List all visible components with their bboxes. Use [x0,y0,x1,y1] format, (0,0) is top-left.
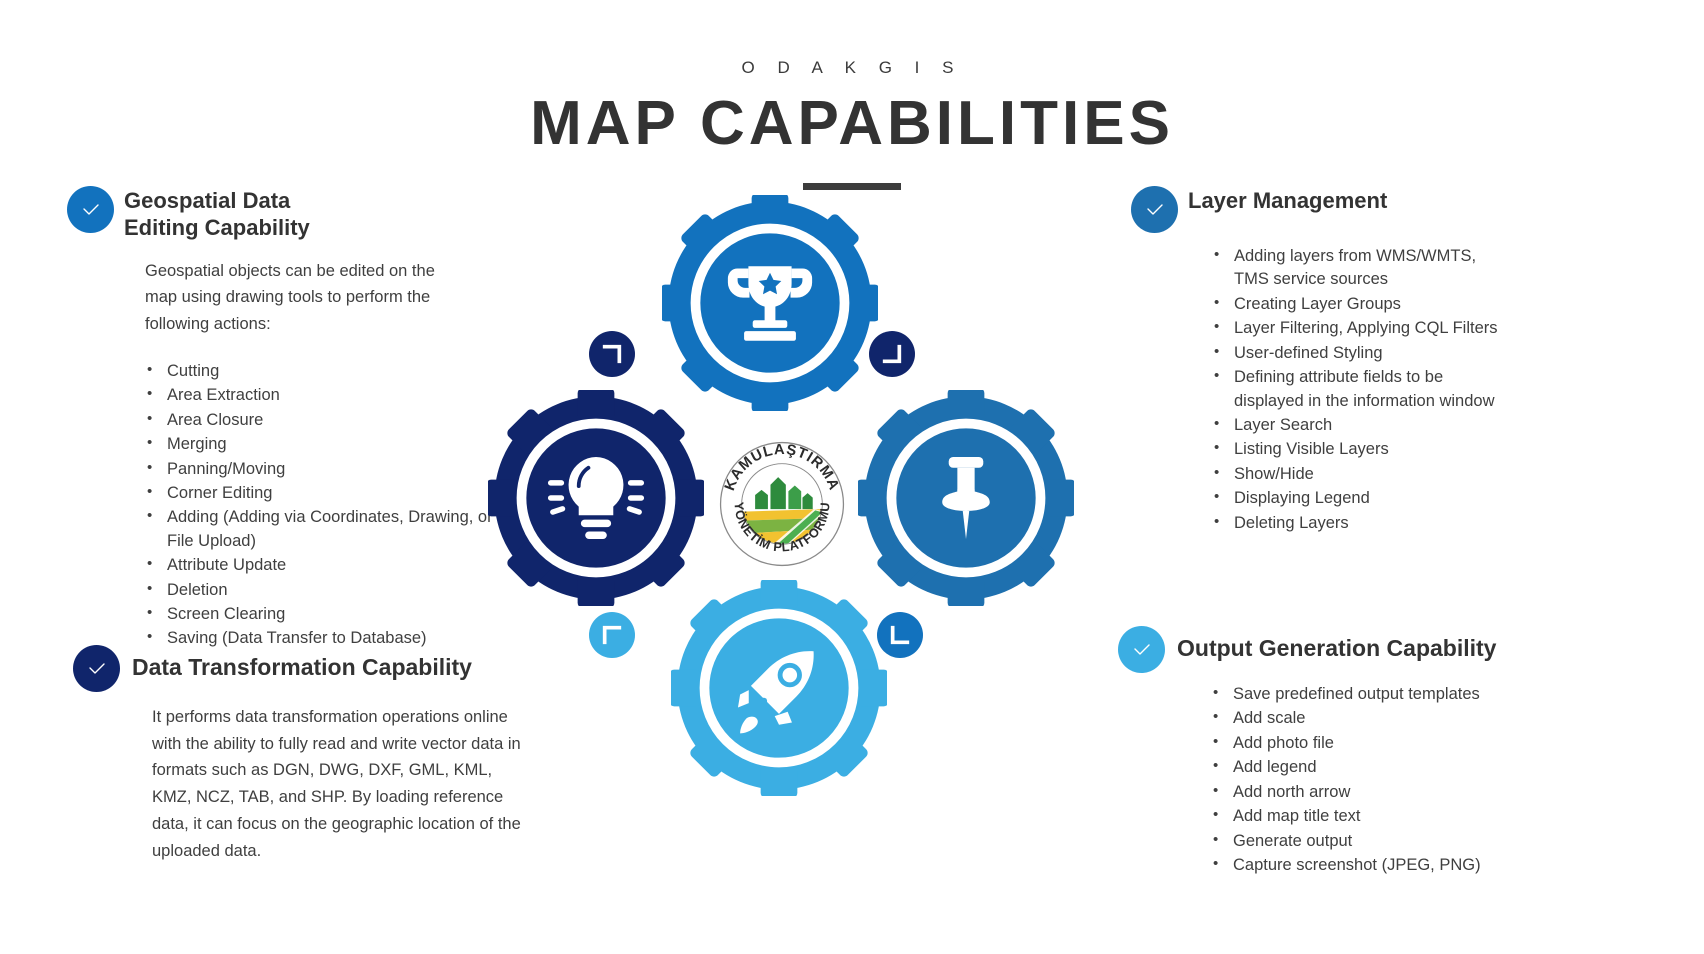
list-item: Displaying Legend [1212,487,1512,510]
list-item: Creating Layer Groups [1212,293,1512,316]
section-title-line-1: Geospatial Data [124,188,310,215]
list-item: Add scale [1211,707,1631,730]
list-item: Panning/Moving [145,458,515,481]
list-item: Attribute Update [145,554,515,577]
section-header: Geospatial Data Editing Capability [67,186,537,242]
list-item: Deletion [145,579,515,602]
check-icon [1130,638,1154,662]
list-item: Adding (Adding via Coordinates, Drawing,… [145,506,515,553]
list-item: Add photo file [1211,732,1631,755]
section-title-line-2: Editing Capability [124,215,310,242]
gear-left-shape [488,390,704,606]
kamulastirma-logo: KAMULAŞTIRMA YÖNETİM PLATFORMU [718,440,846,568]
brand-eyebrow: O D A K G I S [0,58,1704,78]
page-title: MAP CAPABILITIES [0,88,1704,159]
gear-top-shape [662,195,878,411]
list-item: Area Closure [145,409,515,432]
rocket-dot [761,698,767,704]
check-circle-layer [1131,186,1178,233]
list-item: Add north arrow [1211,781,1631,804]
list-item: Save predefined output templates [1211,683,1631,706]
corner-bracket-top-right-icon [601,343,623,365]
title-underline-rule [803,183,901,190]
gear-cluster-diagram: KAMULAŞTIRMA YÖNETİM PLATFORMU [470,195,1110,825]
list-item: Area Extraction [145,384,515,407]
check-icon [1143,198,1167,222]
badge-corner-top-left [589,331,635,377]
section-geospatial-data-editing: Geospatial Data Editing Capability Geosp… [67,186,537,652]
section-title: Output Generation Capability [1177,626,1496,662]
list-item: Listing Visible Layers [1212,438,1512,461]
corner-bracket-bottom-right-icon [881,343,903,365]
list-item: Screen Clearing [145,603,515,626]
badge-corner-bottom-left [589,612,635,658]
section-output-generation: Output Generation Capability Save predef… [1118,626,1678,878]
gear-bottom-shape [671,580,887,796]
center-logo: KAMULAŞTIRMA YÖNETİM PLATFORMU [718,440,846,568]
check-circle-geospatial [67,186,114,233]
list-item: Cutting [145,360,515,383]
gear-right-shape [858,390,1074,606]
layer-management-list: Adding layers from WMS/WMTS, TMS service… [1212,245,1512,535]
list-item: Merging [145,433,515,456]
list-item: Generate output [1211,830,1631,853]
section-paragraph: Geospatial objects can be edited on the … [145,258,463,338]
badge-corner-top-right [869,331,915,377]
list-item: Capture screenshot (JPEG, PNG) [1211,854,1631,877]
list-item: Add map title text [1211,805,1631,828]
list-item: Add legend [1211,756,1631,779]
section-header: Output Generation Capability [1118,626,1678,673]
check-circle-output [1118,626,1165,673]
gear-left [488,390,704,611]
badge-corner-bottom-right [877,612,923,658]
section-title: Geospatial Data Editing Capability [124,186,310,242]
section-title: Layer Management [1188,186,1387,215]
output-generation-list: Save predefined output templatesAdd scal… [1211,683,1631,877]
gear-right [858,390,1074,611]
list-item: Corner Editing [145,482,515,505]
check-icon [85,657,109,681]
list-item: Layer Search [1212,414,1512,437]
gear-top [662,195,878,416]
check-circle-transform [73,645,120,692]
section-header: Layer Management [1131,186,1631,233]
list-item: Defining attribute fields to be displaye… [1212,366,1512,413]
list-item: Adding layers from WMS/WMTS, TMS service… [1212,245,1512,292]
corner-bracket-bottom-left-icon [889,624,911,646]
list-item: Layer Filtering, Applying CQL Filters [1212,317,1512,340]
corner-bracket-top-left-icon [601,624,623,646]
list-item: Deleting Layers [1212,512,1512,535]
gear-bottom [671,580,887,801]
infographic-page: O D A K G I S MAP CAPABILITIES Geospatia… [0,0,1704,954]
check-icon [79,198,103,222]
list-item: User-defined Styling [1212,342,1512,365]
geospatial-capability-list: CuttingArea ExtractionArea ClosureMergin… [145,360,515,651]
list-item: Show/Hide [1212,463,1512,486]
section-title: Data Transformation Capability [132,645,472,681]
section-layer-management: Layer Management Adding layers from WMS/… [1131,186,1631,536]
